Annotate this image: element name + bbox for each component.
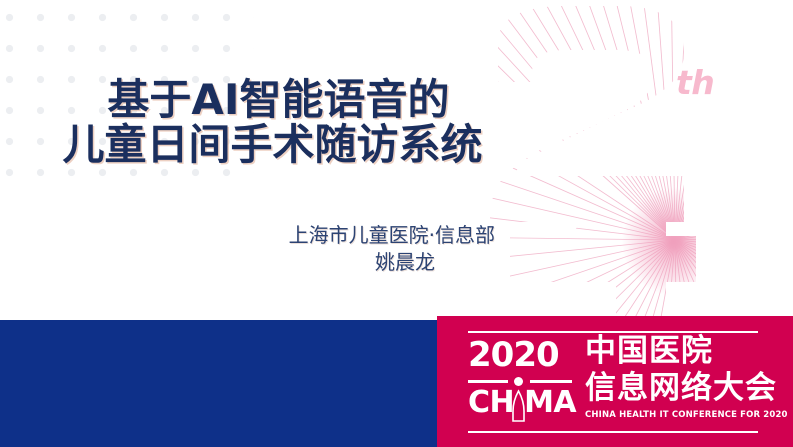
footer-rule-bottom xyxy=(468,431,758,433)
slide-title: 基于AI智能语音的 儿童日间手术随访系统 xyxy=(0,78,545,168)
chima-wordmark: CH MA xyxy=(468,388,572,418)
footer-blue-band xyxy=(0,320,441,447)
conference-logo-lockup: 2020 CH MA 中国医院 信息网络大会 CHINA HEALTH IT C… xyxy=(468,336,760,430)
logo-left-column: 2020 CH MA xyxy=(468,336,572,430)
logo-right-column: 中国医院 信息网络大会 CHINA HEALTH IT CONFERENCE F… xyxy=(572,336,788,430)
chima-rule-segment-left xyxy=(468,380,508,383)
title-line-1: 基于AI智能语音的 xyxy=(0,78,545,123)
subtitle-affiliation: 上海市儿童医院·信息部 xyxy=(0,222,495,249)
title-line-2: 儿童日间手术随访系统 xyxy=(0,123,545,168)
chima-i-glyph-icon xyxy=(512,388,525,424)
presentation-slide: th 基于AI智能语音的 儿童日间手术随访系统 上海市儿童医院·信息部 姚晨龙 … xyxy=(0,0,793,447)
anniversary-ordinal-suffix: th xyxy=(676,66,714,99)
conference-name-line-1: 中国医院 xyxy=(585,336,788,368)
subtitle-presenter-name: 姚晨龙 xyxy=(0,249,495,276)
slide-subtitle: 上海市儿童医院·信息部 姚晨龙 xyxy=(0,222,495,276)
chima-rule-segment-right xyxy=(530,380,572,383)
conference-year: 2020 xyxy=(468,338,572,372)
conference-name-line-2: 信息网络大会 xyxy=(585,373,788,405)
conference-english-tagline: CHINA HEALTH IT CONFERENCE FOR 2020 xyxy=(585,410,788,420)
